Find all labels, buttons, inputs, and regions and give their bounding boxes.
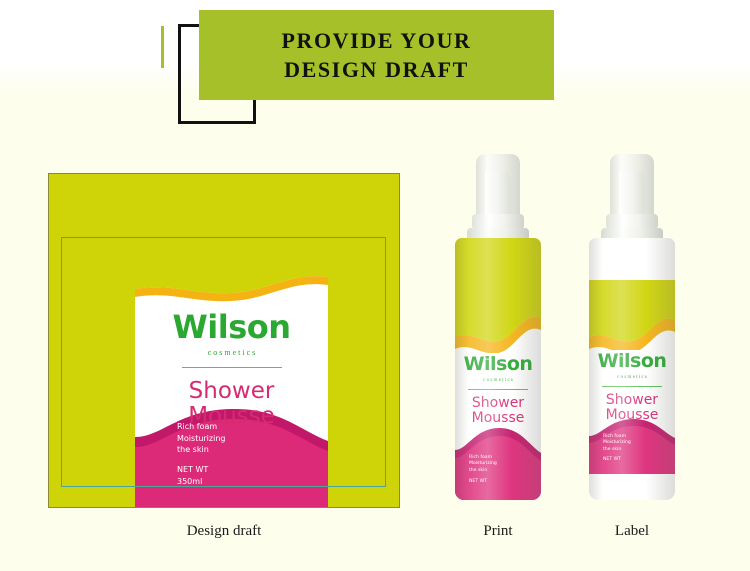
net-weight-value: 350ml (177, 476, 225, 487)
pump-overcap (610, 154, 654, 220)
bottle-mockup-label: Wilson c o s m e t i c s Shower Mousse (589, 148, 675, 500)
blurb-line-1: Rich foam (603, 434, 626, 439)
blurb-line-1: Rich foam (469, 455, 492, 460)
artwork-product-block: Shower Mousse (455, 396, 541, 426)
artwork-top-wave (589, 280, 675, 350)
applied-label-artwork: Wilson c o s m e t i c s Shower Mousse (589, 280, 675, 474)
header-title-banner: PROVIDE YOUR DESIGN DRAFT (199, 10, 554, 100)
net-weight-label: NET WT (469, 479, 497, 486)
caption-label: Label (577, 523, 687, 540)
artwork-bottom-wave (589, 416, 675, 474)
artwork-brand-block: Wilson c o s m e t i c s (455, 355, 541, 390)
caption-print: Print (443, 523, 553, 540)
artwork-top-wave (455, 238, 541, 353)
brand-name: Wilson (455, 355, 541, 374)
brand-subtitle: c o s m e t i c s (135, 349, 328, 357)
net-weight-label: NET WT (603, 457, 631, 464)
product-name-line-2: Mousse (135, 404, 328, 429)
page-title-line-2: DESIGN DRAFT (284, 55, 469, 84)
green-tick-mark-icon (161, 26, 164, 68)
page-title-line-1: PROVIDE YOUR (281, 26, 471, 55)
bottle-body-print: Wilson c o s m e t i c s Shower Mousse (455, 238, 541, 500)
artwork-brand-block: Wilson c o s m e t i c s (589, 352, 675, 387)
product-name-line-2: Mousse (455, 411, 541, 426)
artwork-blurb: Rich foam Moisturizing the skin NET WT 3… (177, 421, 225, 487)
artwork-divider-rule (182, 367, 282, 368)
label-artwork: Wilson c o s m e t i c s Shower Mousse (135, 269, 328, 508)
product-name-line-1: Shower (135, 379, 328, 404)
print-wrap-artwork: Wilson c o s m e t i c s Shower Mousse (455, 238, 541, 500)
artwork-brand-block: Wilson c o s m e t i c s (135, 311, 328, 368)
artwork-bottom-wave (455, 424, 541, 500)
blurb-line-2: Moisturizing (177, 434, 225, 443)
pump-overcap (476, 154, 520, 220)
product-name-line-1: Shower (589, 393, 675, 408)
label-bottle-panel[interactable]: Wilson c o s m e t i c s Shower Mousse (577, 148, 687, 508)
brand-subtitle: c o s m e t i c s (455, 378, 541, 383)
blurb-line-3: the skin (603, 447, 621, 452)
bottle-mockup-print: Wilson c o s m e t i c s Shower Mousse (455, 148, 541, 500)
caption-design-draft: Design draft (48, 523, 400, 540)
net-weight-label: NET WT (177, 464, 225, 475)
pump-lever (485, 170, 511, 216)
brand-subtitle: c o s m e t i c s (589, 375, 675, 380)
bottle-body-label: Wilson c o s m e t i c s Shower Mousse (589, 238, 675, 500)
blurb-line-3: the skin (469, 468, 487, 473)
blurb-line-1: Rich foam (177, 422, 217, 431)
product-name-line-1: Shower (455, 396, 541, 411)
print-bottle-panel[interactable]: Wilson c o s m e t i c s Shower Mousse (443, 148, 553, 508)
artwork-blurb: Rich foam Moisturizing the skin NET WT (469, 455, 497, 486)
label-artwork: Wilson c o s m e t i c s Shower Mousse (589, 280, 675, 474)
product-name-line-2: Mousse (589, 408, 675, 423)
brand-name: Wilson (135, 311, 328, 343)
design-draft-panel[interactable]: Wilson c o s m e t i c s Shower Mousse (48, 173, 400, 508)
artwork-product-block: Shower Mousse (589, 393, 675, 423)
page-header: PROVIDE YOUR DESIGN DRAFT (0, 0, 750, 140)
artwork-divider-rule (468, 389, 528, 390)
artwork-top-wave (135, 269, 328, 303)
pump-lever (619, 170, 645, 216)
blurb-line-2: Moisturizing (469, 461, 497, 466)
label-artwork: Wilson c o s m e t i c s Shower Mousse (455, 238, 541, 500)
artwork-product-block: Shower Mousse (135, 379, 328, 429)
blurb-line-2: Moisturizing (603, 440, 631, 445)
artwork-divider-rule (602, 386, 662, 387)
draft-label-artwork: Wilson c o s m e t i c s Shower Mousse (135, 269, 328, 508)
blurb-line-3: the skin (177, 445, 209, 454)
brand-name: Wilson (589, 352, 675, 371)
content-area: Wilson c o s m e t i c s Shower Mousse (0, 140, 750, 571)
design-draft-canvas: Wilson c o s m e t i c s Shower Mousse (48, 173, 400, 508)
artwork-blurb: Rich foam Moisturizing the skin NET WT (603, 434, 631, 464)
